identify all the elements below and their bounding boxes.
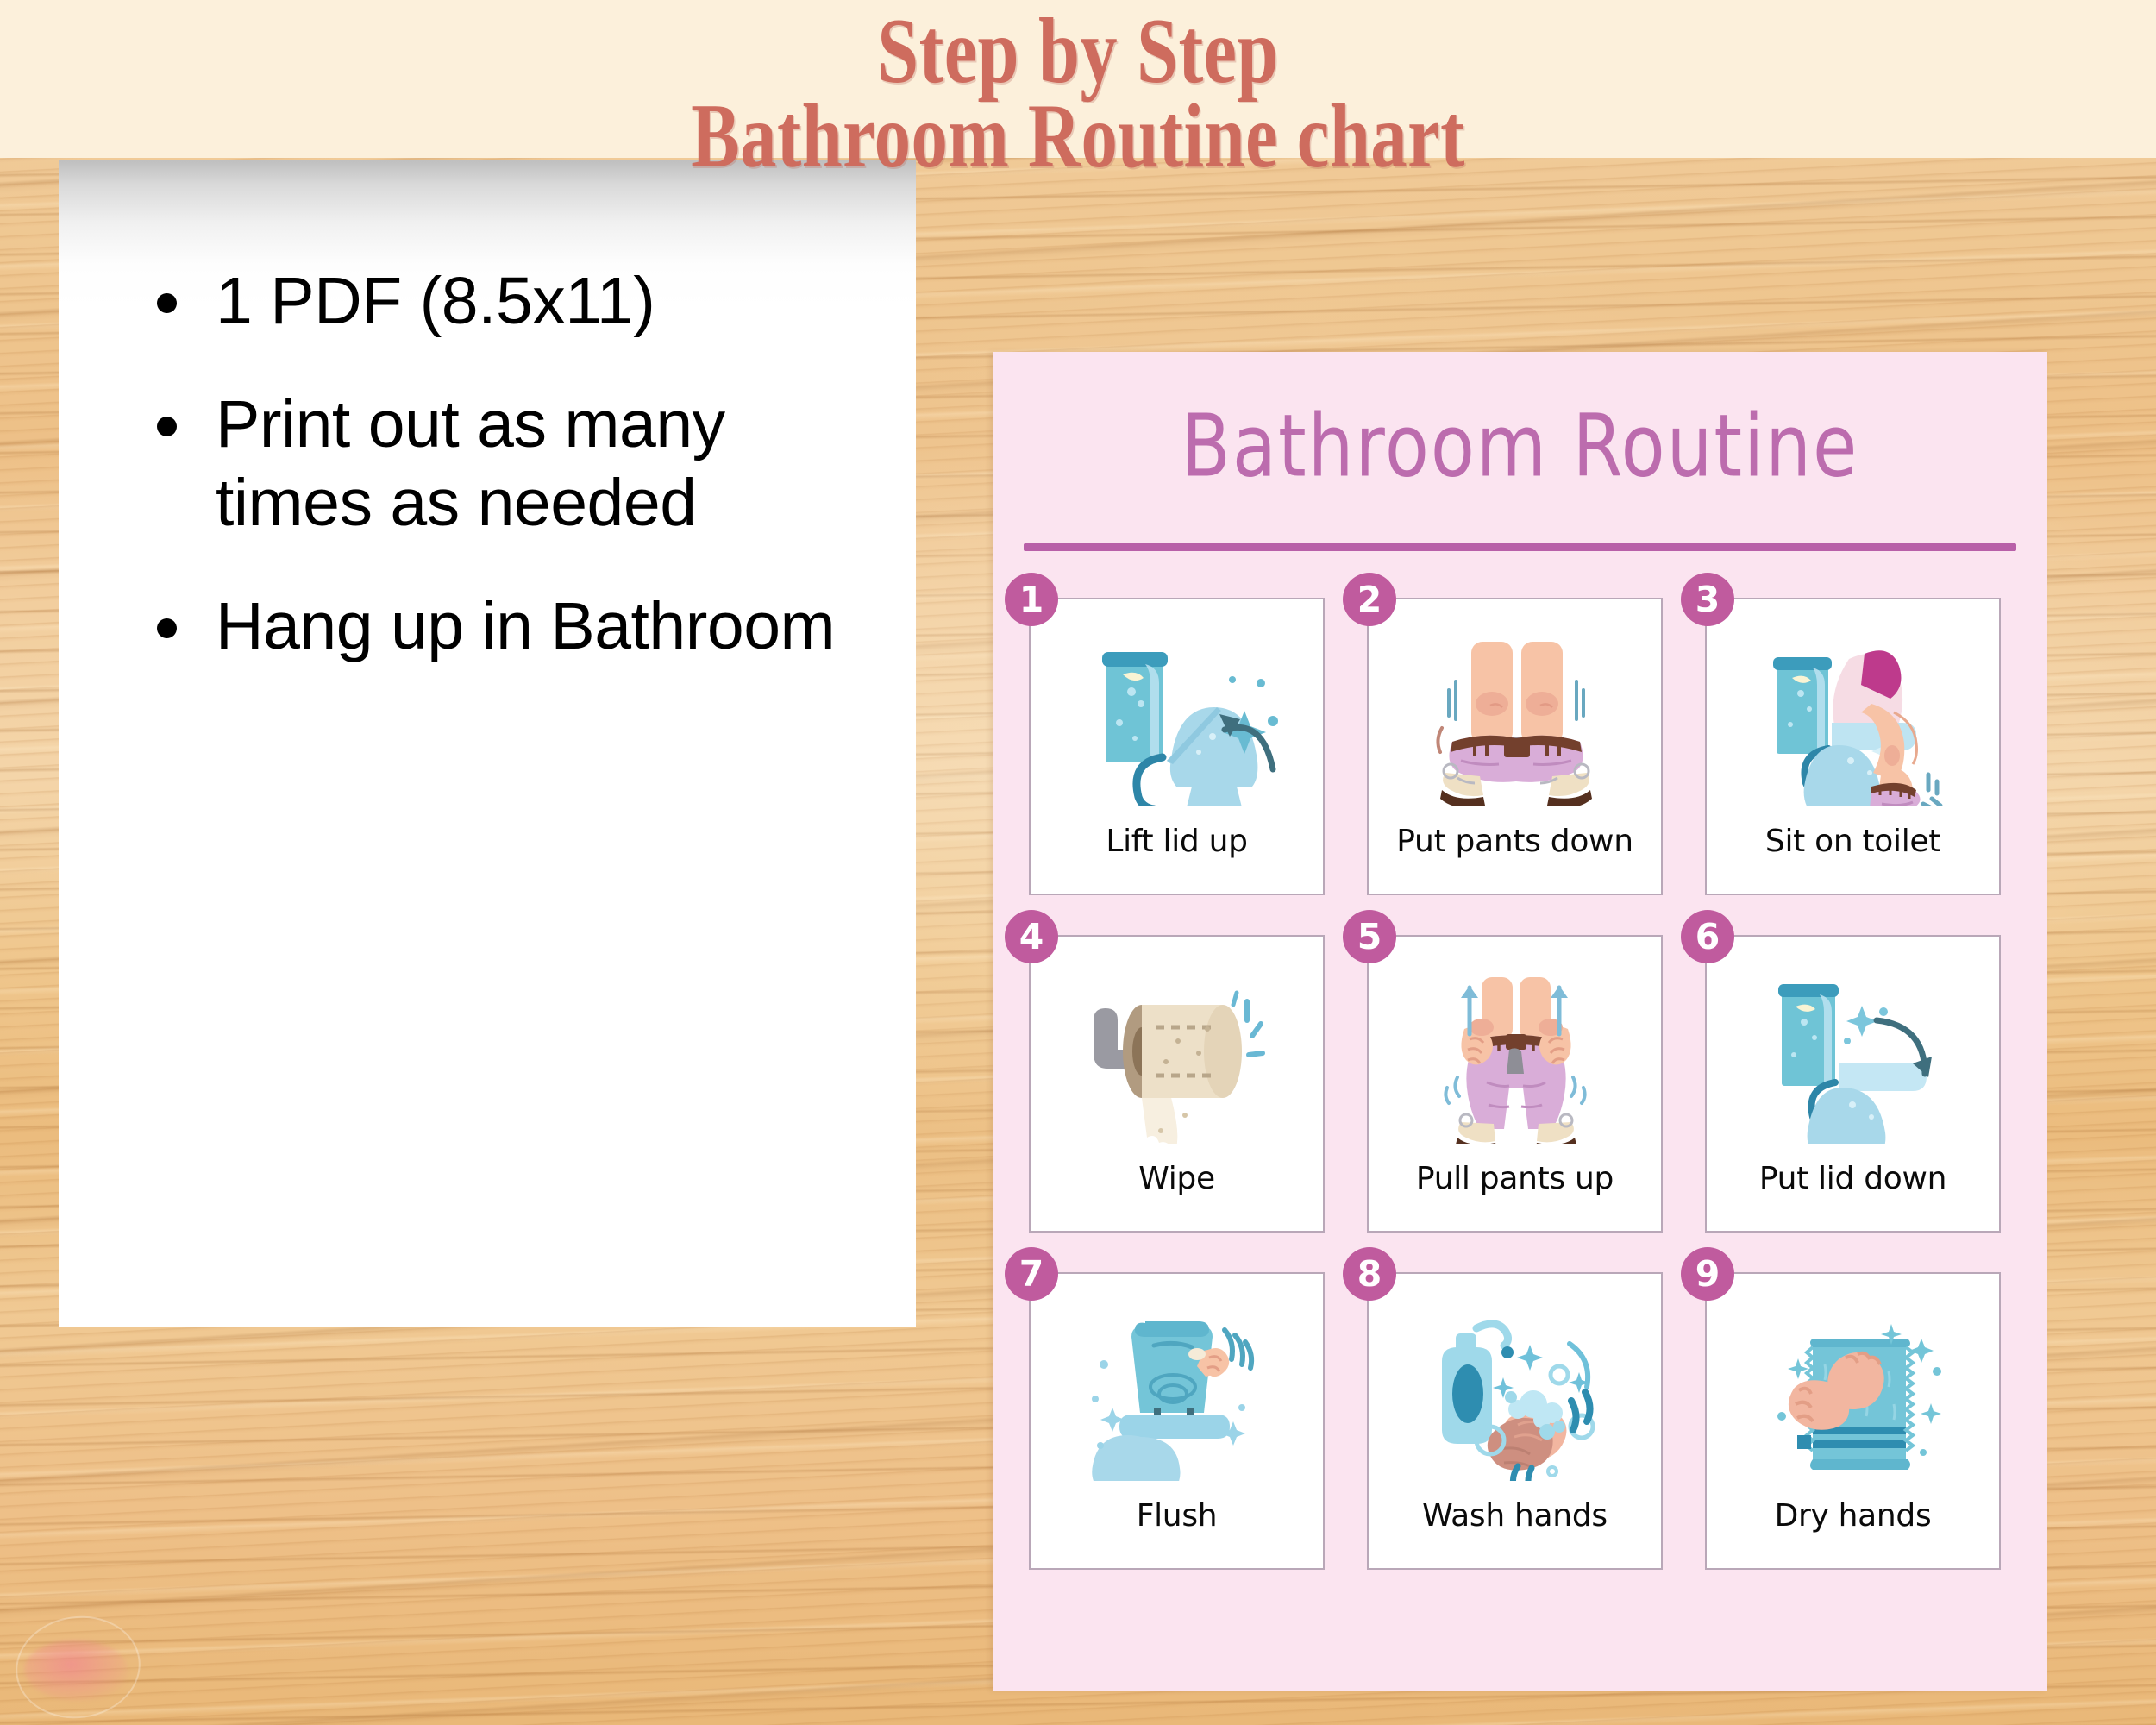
pants-down-icon [1369, 599, 1661, 824]
slide-canvas: Step by Step Bathroom Routine chart 1 PD… [0, 0, 2156, 1725]
header-title-line1: Step by Step [216, 3, 1940, 94]
step-label: Put lid down [1759, 1161, 1946, 1231]
step-card-9[interactable]: 9 [1705, 1272, 2001, 1570]
step-number-badge: 4 [1005, 910, 1058, 963]
step-label: Sit on toilet [1765, 824, 1940, 894]
step-card-6[interactable]: 6 [1705, 935, 2001, 1233]
step-card-8[interactable]: 8 [1367, 1272, 1663, 1570]
flush-toilet-icon [1031, 1274, 1323, 1498]
step-card-1[interactable]: 1 [1029, 598, 1325, 895]
list-item: Hang up in Bathroom [145, 587, 866, 666]
step-number-badge: 1 [1005, 573, 1058, 626]
step-label: Lift lid up [1106, 824, 1247, 894]
watermark-logo-icon [24, 1640, 128, 1701]
step-number-badge: 8 [1343, 1247, 1396, 1301]
step-label: Put pants down [1396, 824, 1633, 894]
step-label: Wipe [1138, 1161, 1215, 1231]
step-label: Dry hands [1775, 1498, 1932, 1568]
dry-hands-towel-icon [1707, 1274, 1999, 1498]
list-item: Print out as many times as needed [145, 386, 866, 543]
feature-bullet-list: 1 PDF (8.5x11) Print out as many times a… [59, 262, 916, 665]
step-card-3[interactable]: 3 [1705, 598, 2001, 895]
wash-hands-icon [1369, 1274, 1661, 1498]
step-number-badge: 3 [1681, 573, 1734, 626]
step-card-4[interactable]: 4 [1029, 935, 1325, 1233]
toilet-paper-icon [1031, 937, 1323, 1161]
info-card: 1 PDF (8.5x11) Print out as many times a… [59, 160, 916, 1327]
poster-divider [1024, 543, 2016, 551]
routine-step-grid: 1 [1029, 598, 2047, 1570]
step-number-badge: 6 [1681, 910, 1734, 963]
step-label: Flush [1137, 1498, 1218, 1568]
toilet-lid-up-icon [1031, 599, 1323, 824]
header-banner: Step by Step Bathroom Routine chart [0, 0, 2156, 158]
toilet-lid-down-icon [1707, 937, 1999, 1161]
step-number-badge: 2 [1343, 573, 1396, 626]
step-card-7[interactable]: 7 [1029, 1272, 1325, 1570]
list-item: 1 PDF (8.5x11) [145, 262, 866, 341]
step-label: Pull pants up [1416, 1161, 1614, 1231]
header-title-line2: Bathroom Routine chart [216, 94, 1940, 179]
step-card-5[interactable]: 5 [1367, 935, 1663, 1233]
step-label: Wash hands [1422, 1498, 1608, 1568]
pants-up-icon [1369, 937, 1661, 1161]
step-card-2[interactable]: 2 [1367, 598, 1663, 895]
step-number-badge: 5 [1343, 910, 1396, 963]
sit-on-toilet-icon [1707, 599, 1999, 824]
poster-title: Bathroom Routine [1008, 397, 2031, 497]
step-number-badge: 9 [1681, 1247, 1734, 1301]
bathroom-routine-poster: Bathroom Routine 1 [993, 352, 2047, 1690]
step-number-badge: 7 [1005, 1247, 1058, 1301]
